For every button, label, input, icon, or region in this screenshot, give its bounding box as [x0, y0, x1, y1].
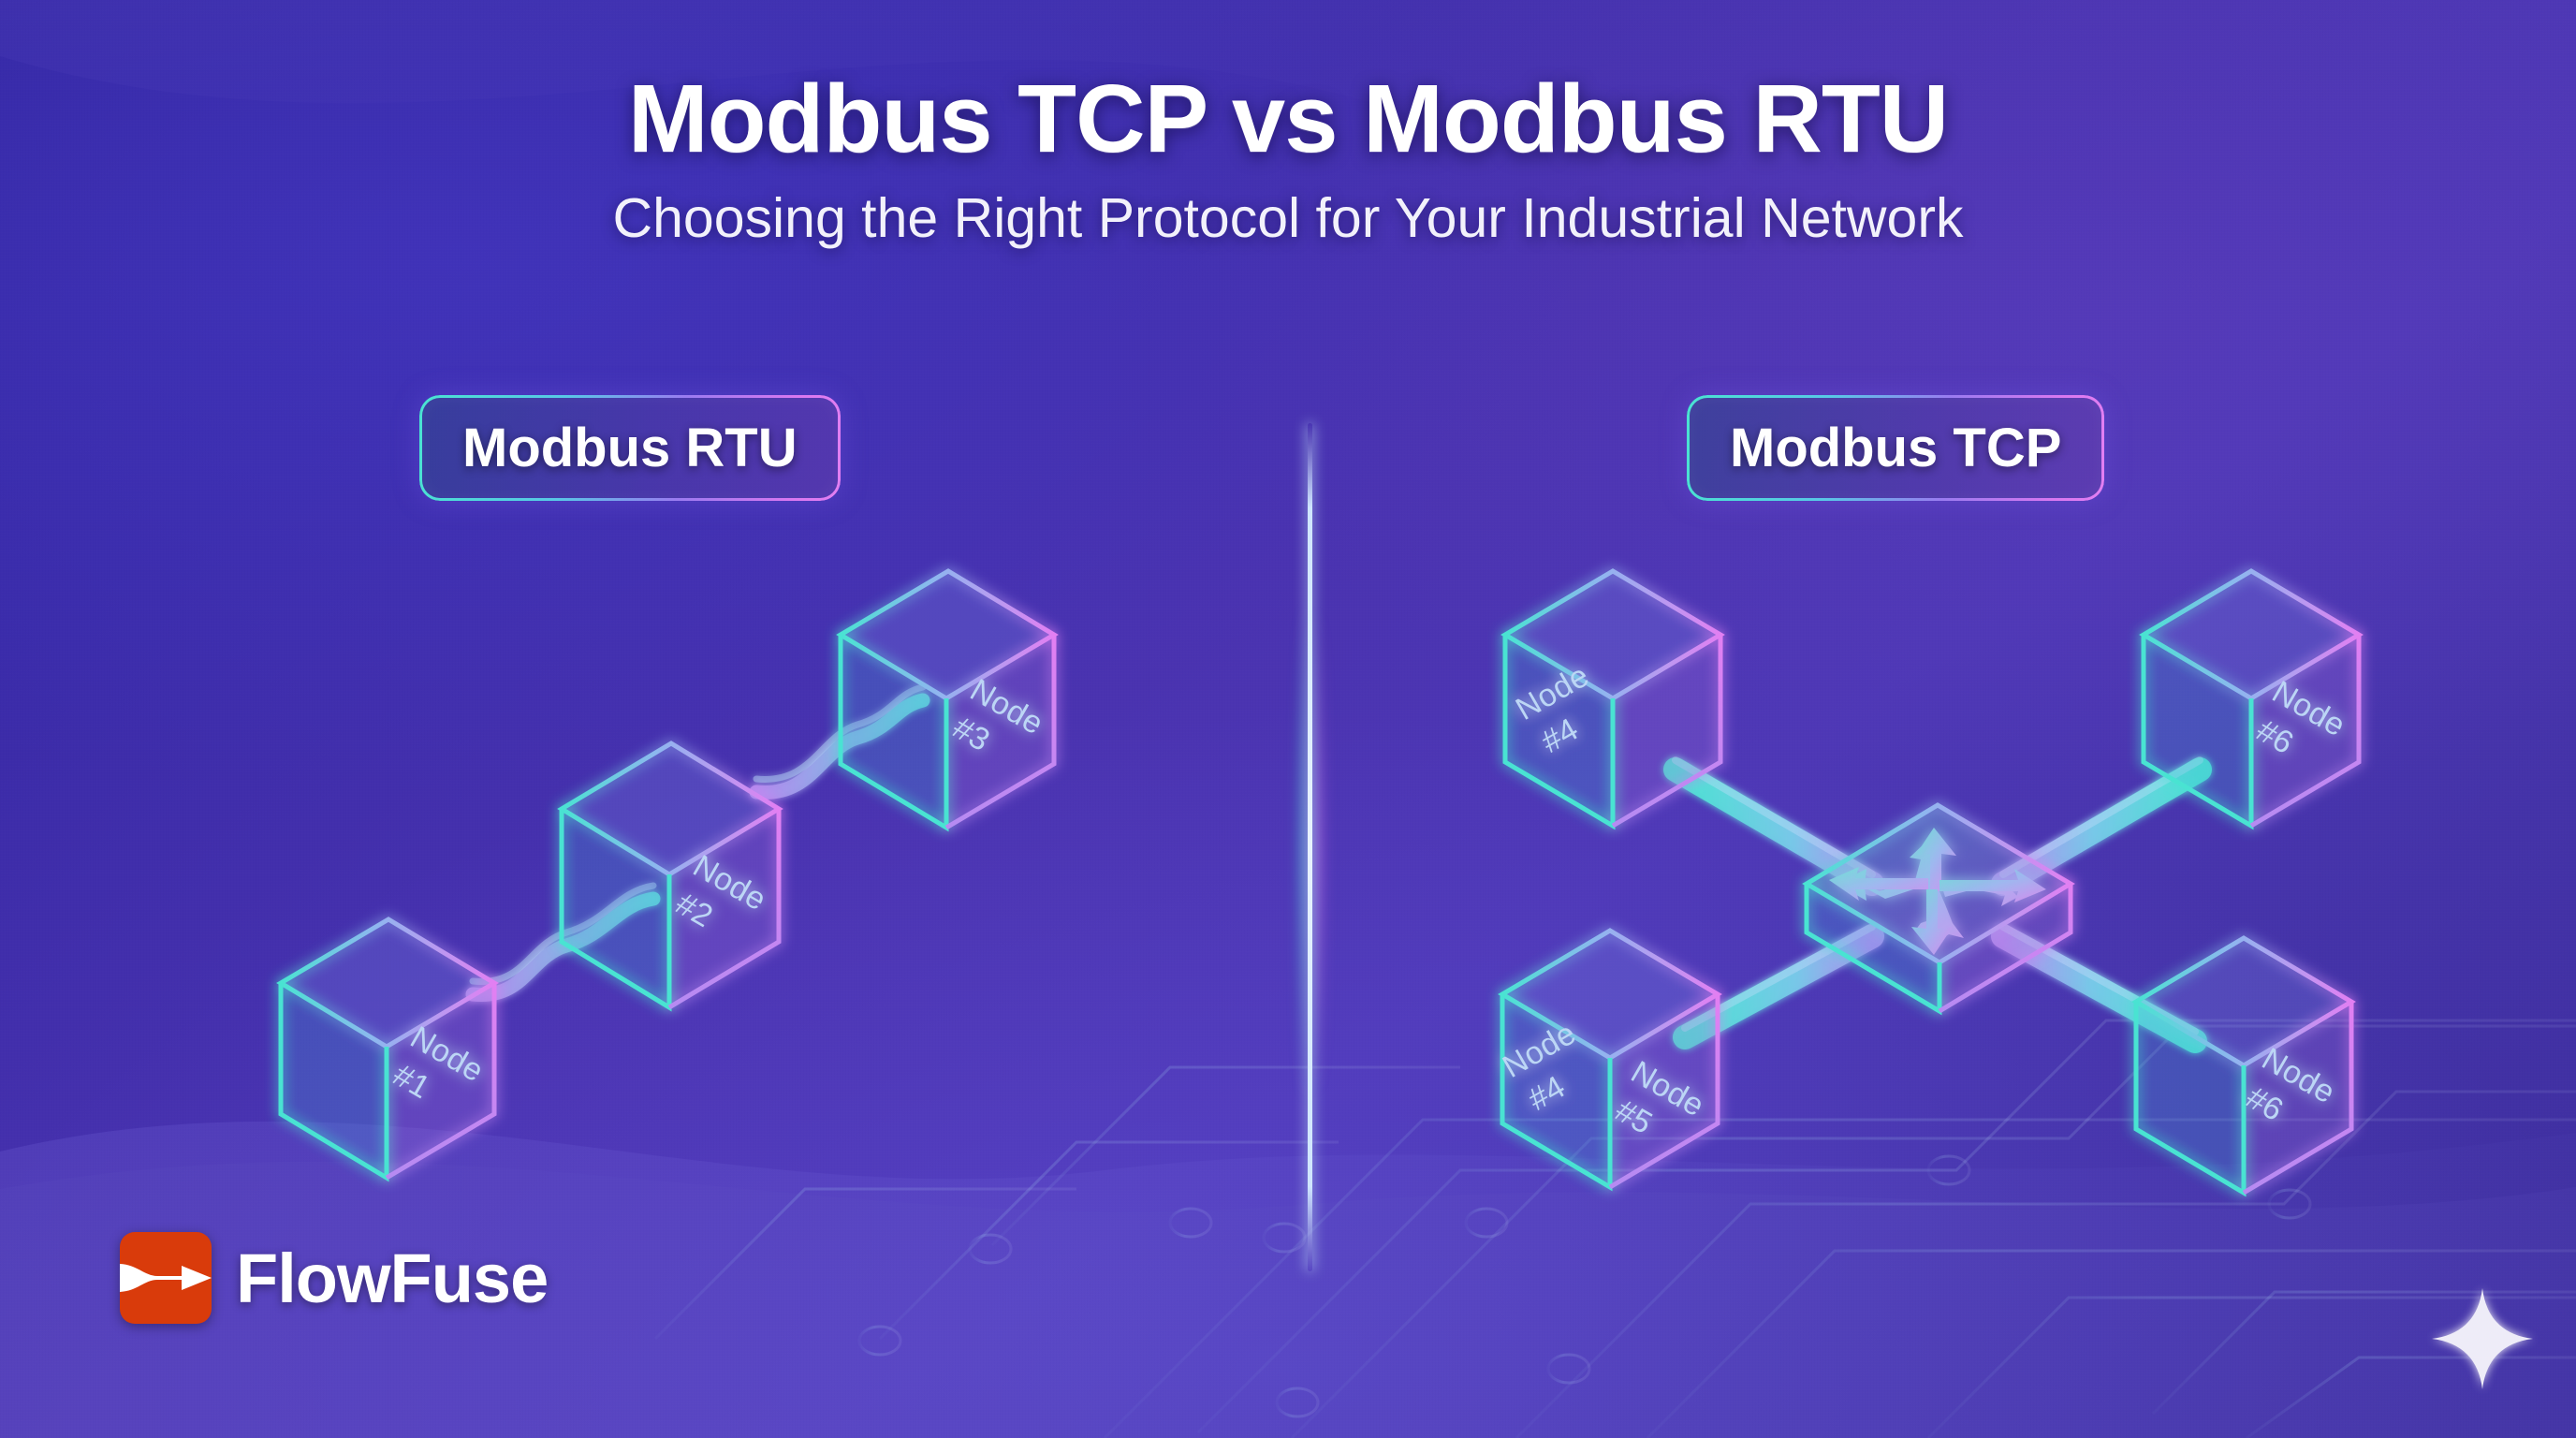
flowfuse-merge-icon	[120, 1232, 212, 1324]
rtu-node-2[interactable]: Node #2	[562, 743, 781, 1007]
rtu-node-3[interactable]: Node #3	[841, 571, 1058, 828]
network-diagram: Node #1 Node #2	[0, 0, 2576, 1438]
brand-name: FlowFuse	[236, 1239, 548, 1318]
tcp-switch[interactable]	[1807, 805, 2071, 1011]
tcp-node-bottom-left[interactable]: Node #4 Node #5	[1497, 931, 1719, 1187]
poster-canvas: Modbus TCP vs Modbus RTU Choosing the Ri…	[0, 0, 2576, 1438]
tcp-topology: Node #4 Node #6	[1497, 571, 2360, 1193]
tcp-node-bottom-right[interactable]: Node #6	[2136, 938, 2351, 1193]
brand-logo[interactable]: FlowFuse	[120, 1232, 548, 1324]
rtu-node-1[interactable]: Node #1	[281, 919, 498, 1178]
rtu-topology: Node #1 Node #2	[281, 571, 1058, 1178]
four-point-star-icon	[2426, 1283, 2539, 1395]
